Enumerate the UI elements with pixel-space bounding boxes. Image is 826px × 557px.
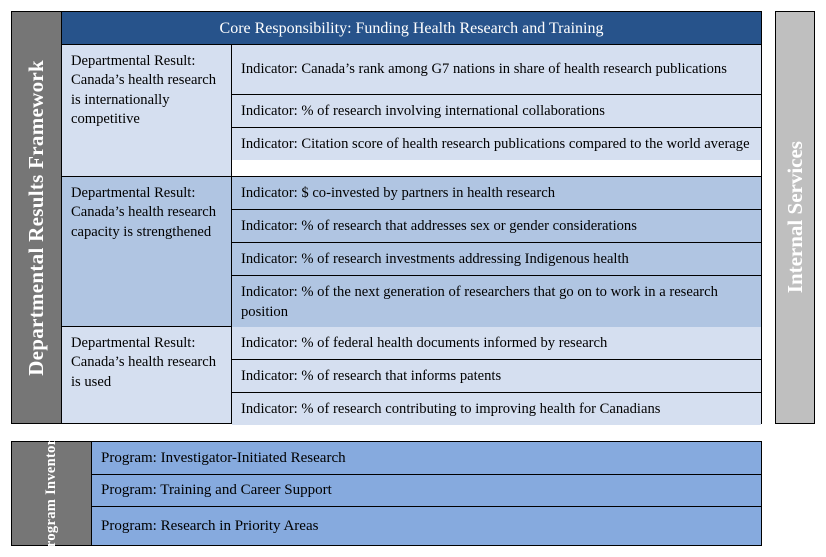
indicator-row: Indicator: % of research investments add… <box>232 243 761 276</box>
program-inventory-side-label-bar: Program Inventory <box>11 441 92 546</box>
program-row: Program: Investigator-Initiated Research <box>92 442 761 475</box>
departmental-results-framework: Departmental Results Framework Core Resp… <box>11 11 762 424</box>
core-responsibility-header: Core Responsibility: Funding Health Rese… <box>62 12 761 45</box>
departmental-result-cell: Departmental Result: Canada’s health res… <box>62 45 232 176</box>
indicator-row: Indicator: $ co-invested by partners in … <box>232 177 761 210</box>
program-row: Program: Research in Priority Areas <box>92 507 761 545</box>
internal-services-label: Internal Services <box>783 141 808 293</box>
departmental-result-cell: Departmental Result: Canada’s health res… <box>62 177 232 326</box>
program-row: Program: Training and Career Support <box>92 475 761 507</box>
internal-services-bar: Internal Services <box>775 11 815 424</box>
indicator-row: Indicator: Citation score of health rese… <box>232 128 761 160</box>
program-inventory-side-label: Program Inventory <box>43 431 60 556</box>
indicator-row: Indicator: % of research contributing to… <box>232 393 761 425</box>
results-body: Departmental Result: Canada’s health res… <box>62 45 761 423</box>
departmental-result-cell: Departmental Result: Canada’s health res… <box>62 327 232 423</box>
framework-side-label-bar: Departmental Results Framework <box>11 11 62 424</box>
indicator-row: Indicator: % of the next generation of r… <box>232 276 761 329</box>
indicator-row: Indicator: % of federal health documents… <box>232 327 761 360</box>
indicator-row: Indicator: % of research that addresses … <box>232 210 761 243</box>
result-group: Departmental Result: Canada’s health res… <box>62 327 761 423</box>
program-inventory: Program Inventory Program: Investigator-… <box>11 441 762 546</box>
result-group: Departmental Result: Canada’s health res… <box>62 177 761 327</box>
indicator-row: Indicator: % of research that informs pa… <box>232 360 761 393</box>
result-group: Departmental Result: Canada’s health res… <box>62 45 761 177</box>
indicator-list: Indicator: % of federal health documents… <box>232 327 761 423</box>
indicator-list: Indicator: Canada’s rank among G7 nation… <box>232 45 761 176</box>
indicator-row: Indicator: % of research involving inter… <box>232 95 761 128</box>
framework-side-label: Departmental Results Framework <box>24 60 49 376</box>
framework-table: Core Responsibility: Funding Health Rese… <box>62 11 762 424</box>
indicator-row: Indicator: Canada’s rank among G7 nation… <box>232 45 761 95</box>
program-list: Program: Investigator-Initiated Research… <box>92 441 762 546</box>
indicator-list: Indicator: $ co-invested by partners in … <box>232 177 761 326</box>
